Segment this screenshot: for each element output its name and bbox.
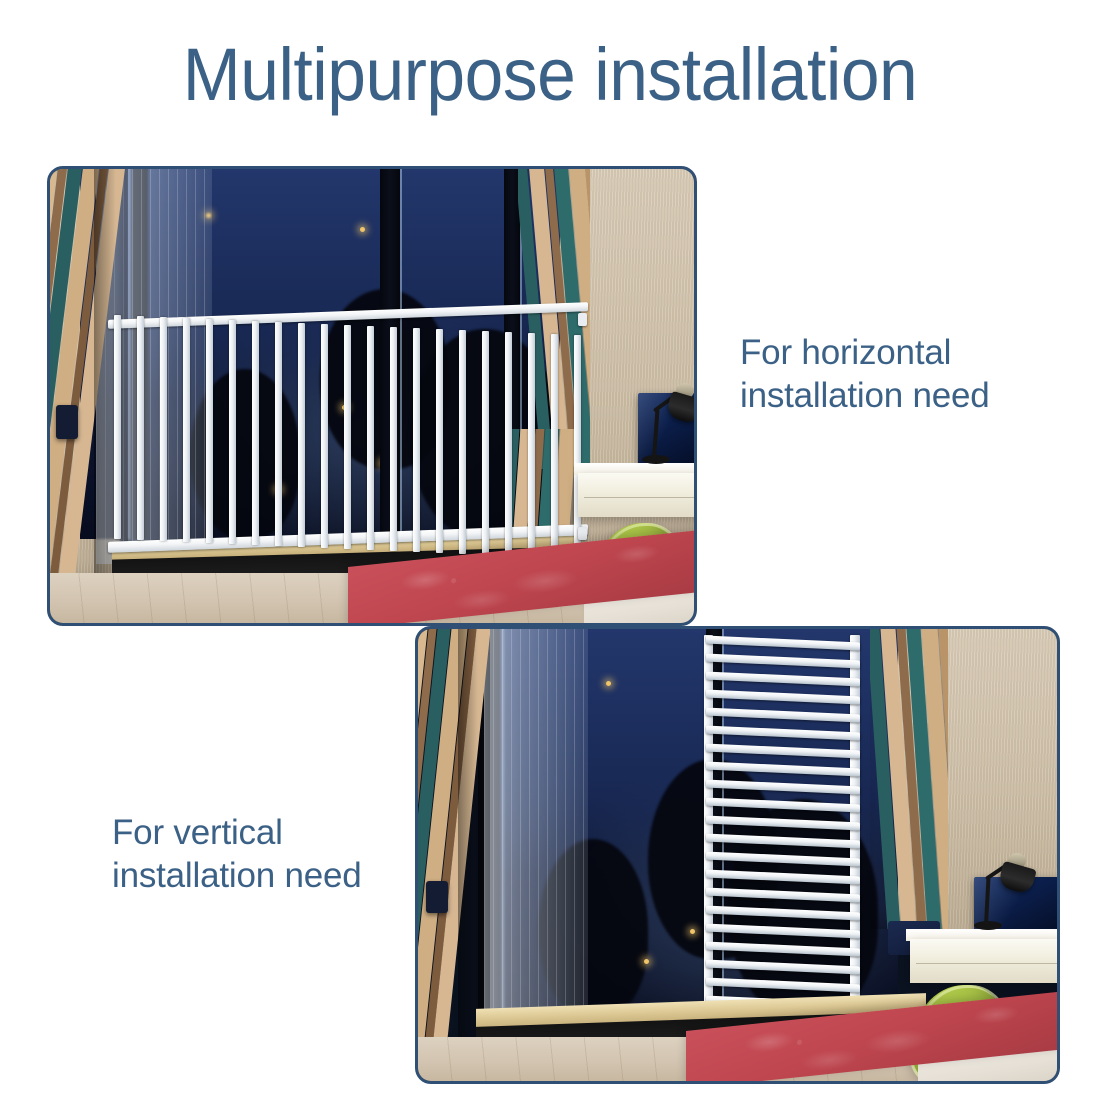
page-title: Multipurpose installation [33,38,1067,112]
barrier-rung [706,798,860,813]
barrier-mount [578,313,587,326]
barrier-rung [706,726,860,741]
desk [910,939,1057,983]
caption-vertical-installation: For vertical installation need [112,812,362,897]
barrier-mount [578,527,587,540]
barrier-rung [706,906,860,921]
barrier-rung [706,834,860,849]
barrier-rung [706,852,860,867]
barrier-rung [706,942,860,957]
barrier-rung [706,690,860,705]
desk [578,473,694,517]
barrier-bar [206,319,213,543]
barrier-rung [706,924,860,939]
barrier-bar [114,315,121,539]
barrier-rung [706,960,860,975]
barrier-bar [505,332,512,556]
safety-barrier-horizontal [108,311,588,557]
curtain-left [418,629,490,1059]
barrier-rung [706,888,860,903]
safety-barrier-vertical [702,635,862,1023]
streetlight [606,681,611,686]
barrier-rung [706,636,860,651]
curtain-right [870,629,948,929]
streetlight [690,929,695,934]
barrier-bar [321,324,328,548]
barrier-rung [706,744,860,759]
barrier-bar [160,317,167,541]
barrier-bar [390,327,397,551]
barrier-rung [706,672,860,687]
scene-horizontal [50,169,694,623]
streetlight [644,959,649,964]
barrier-rung [706,654,860,669]
barrier-bar [367,326,374,550]
barrier-bar [183,318,190,542]
barrier-bar [137,316,144,540]
barrier-bar [574,335,581,559]
barrier-bar [551,334,558,558]
barrier-rung [706,762,860,777]
barrier-bar [229,320,236,544]
barrier-bar [459,330,466,554]
barrier-rung [706,978,860,993]
caption-horizontal-installation: For horizontal installation need [740,332,990,417]
barrier-bar [275,322,282,546]
barrier-rung [706,816,860,831]
sheer-curtain-texture [484,629,588,1029]
curtain-tieback [56,405,78,439]
barrier-bar [344,325,351,549]
barrier-rung [706,708,860,723]
streetlight [360,227,365,232]
photo-vertical-installation [415,626,1060,1084]
barrier-bar [298,323,305,547]
barrier-rung [706,870,860,885]
barrier-bar [482,331,489,555]
barrier-bar [436,329,443,553]
desk-drawer-edge [584,497,694,498]
barrier-rung [706,780,860,795]
barrier-bar [528,333,535,557]
desk-drawer-edge [916,963,1057,964]
barrier-bar [252,321,259,545]
scene-vertical [418,629,1057,1081]
barrier-bar [413,328,420,552]
photo-horizontal-installation [47,166,697,626]
curtain-tieback [426,881,448,913]
